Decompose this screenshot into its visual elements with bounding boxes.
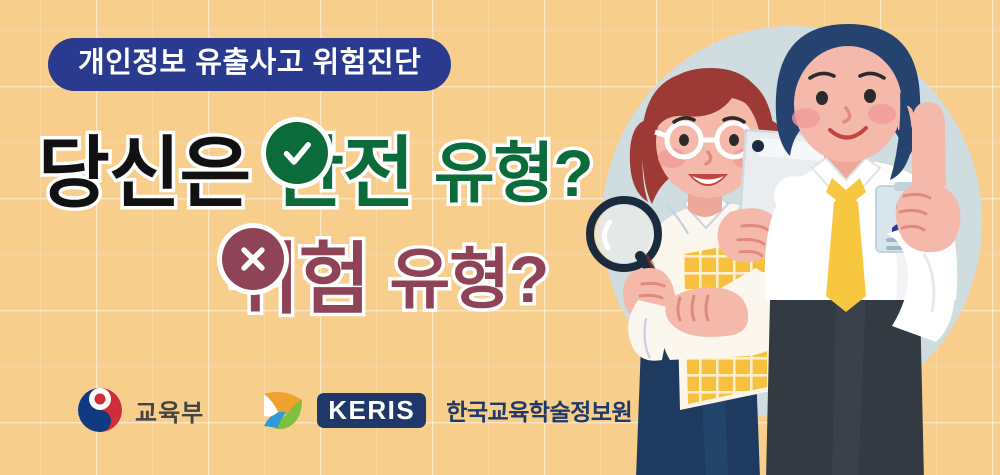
taeguk-icon (76, 386, 124, 434)
ministry-label: 교육부 (135, 393, 204, 428)
check-icon (266, 122, 328, 184)
logo-row: 교육부 KERIS 한국교육학술정보원 (76, 386, 632, 434)
safe-keyword-wrap: 안전 (272, 134, 414, 212)
promo-banner: 개인정보 유출사고 위험진단 당신은 안전 유형? (0, 0, 1000, 475)
headline-prefix: 당신은 (38, 134, 250, 212)
headline-line-1: 당신은 안전 유형? (38, 125, 593, 221)
logo-ministry-of-education: 교육부 (76, 386, 204, 434)
keris-acronym: KERIS (317, 393, 426, 428)
risk-keyword-wrap: 위험 (228, 240, 370, 318)
keris-leaf-icon (262, 390, 304, 430)
headline-line-2: 위험 유형? (228, 231, 593, 327)
cross-icon (222, 228, 284, 290)
topic-badge: 개인정보 유출사고 위험진단 (48, 38, 451, 91)
man-face (794, 46, 902, 162)
headline-block: 당신은 안전 유형? 위험 유형? (38, 125, 593, 327)
magnifier-icon (590, 200, 658, 278)
two-office-workers-illustration (580, 0, 1000, 475)
index-finger (912, 102, 946, 191)
headline-suffix-safe: 유형? (434, 140, 593, 206)
logo-keris: KERIS 한국교육학술정보원 (262, 390, 632, 430)
headline-suffix-risk: 유형? (390, 246, 549, 312)
keris-full-name: 한국교육학술정보원 (446, 393, 632, 427)
